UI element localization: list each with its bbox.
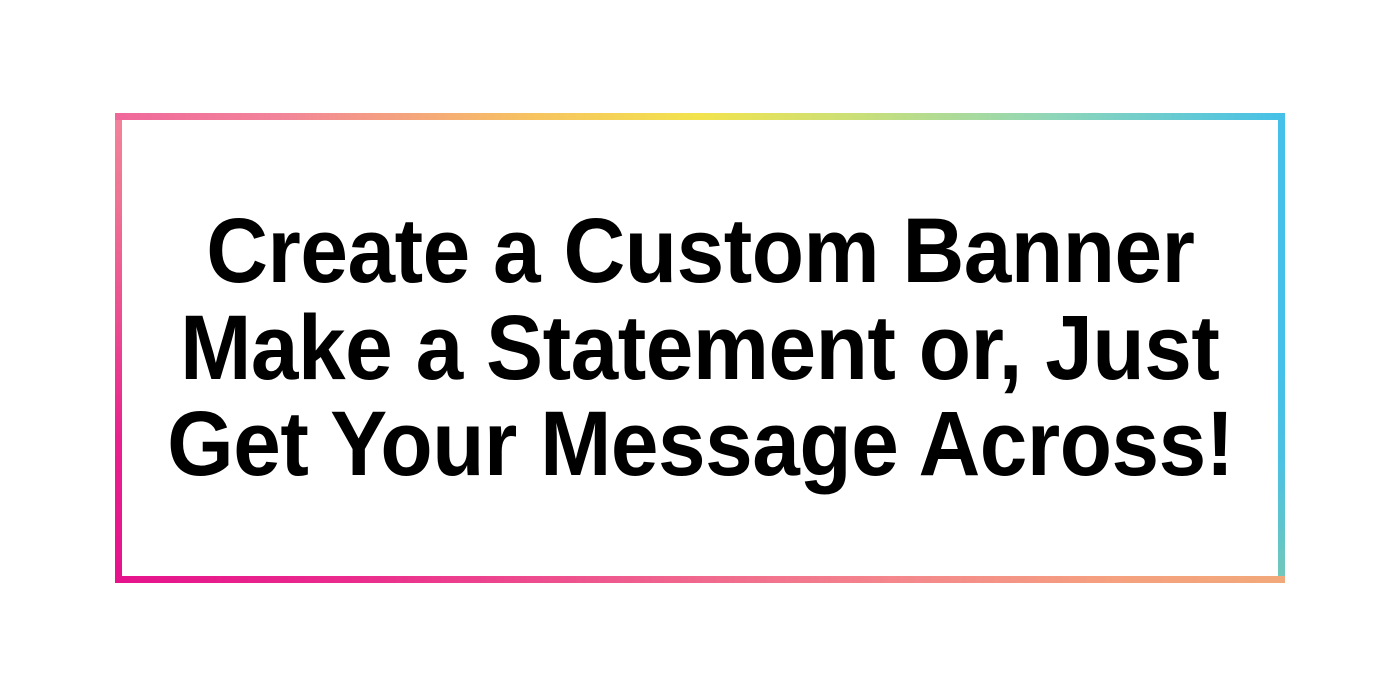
banner-inner: Create a Custom Banner Make a Statement …: [122, 120, 1278, 576]
banner-line-1: Create a Custom Banner: [206, 203, 1194, 300]
banner-line-3: Get Your Message Across!: [167, 396, 1234, 493]
banner-box: Create a Custom Banner Make a Statement …: [115, 113, 1285, 583]
banner-canvas: Create a Custom Banner Make a Statement …: [0, 0, 1400, 700]
banner-line-2: Make a Statement or, Just: [180, 300, 1219, 397]
